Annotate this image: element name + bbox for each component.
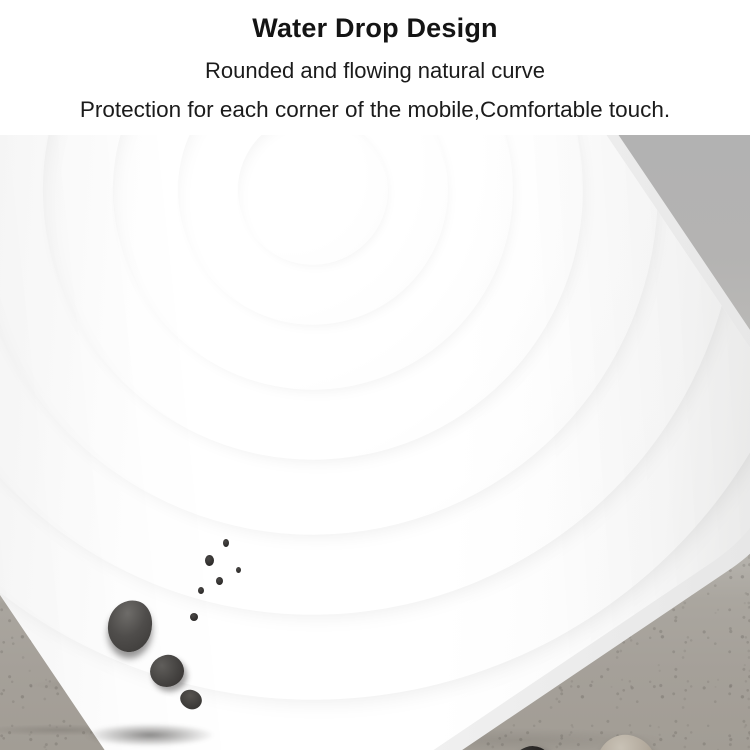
pebble [223, 539, 229, 547]
header-text-band: Water Drop Design Rounded and flowing na… [0, 0, 750, 135]
pebble [198, 587, 204, 594]
pebble [236, 567, 241, 573]
subtitle-line-1: Rounded and flowing natural curve [0, 58, 750, 84]
pebble [190, 613, 198, 621]
pebble [216, 577, 223, 585]
page-title: Water Drop Design [0, 12, 750, 44]
pebble [205, 555, 214, 566]
product-photo [0, 135, 750, 750]
product-marketing-image: Water Drop Design Rounded and flowing na… [0, 0, 750, 750]
subtitle-line-2: Protection for each corner of the mobile… [0, 97, 750, 123]
